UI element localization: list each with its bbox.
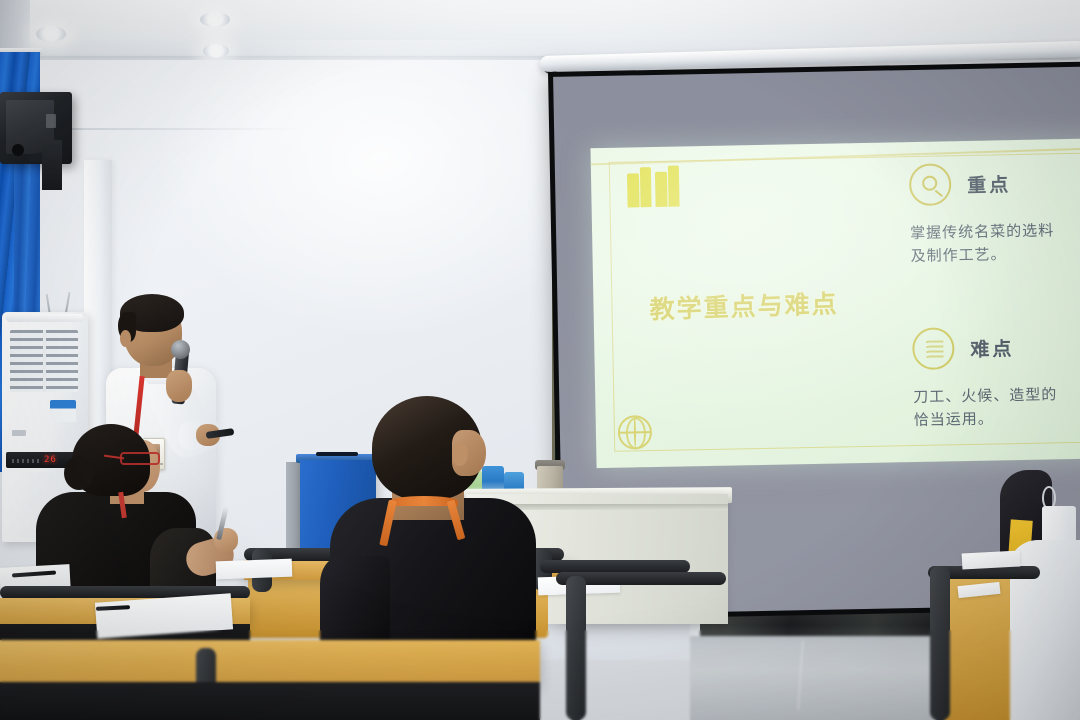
presenter-ear [120, 330, 131, 347]
section-header: 难点 [912, 324, 1080, 370]
handout-paper [216, 559, 293, 580]
section-body: 刀工、火候、造型的 恰当运用。 [913, 382, 1080, 433]
recessed-light-icon [36, 26, 66, 42]
cabinet-slot-icon [316, 452, 358, 456]
magnifier-icon [909, 163, 952, 206]
desk-surface-front [0, 640, 540, 686]
speaker-logo [46, 114, 56, 128]
slide-section-key-points: 重点 掌握传统名菜的选料 及制作工艺。 [909, 160, 1080, 269]
projected-slide: 教学重点与难点 重点 掌握传统名菜的选料 及制作工艺。 [590, 138, 1080, 468]
section-header: 重点 [909, 160, 1080, 206]
ac-energy-label [50, 400, 76, 422]
section-body: 掌握传统名菜的选料 及制作工艺。 [910, 218, 1080, 269]
desk-post [566, 576, 586, 720]
slide-section-difficult-points: 难点 刀工、火候、造型的 恰当运用。 [912, 324, 1080, 433]
recessed-light-icon [203, 44, 229, 58]
desk-front-panel [0, 682, 540, 720]
ac-temperature-readout: 26 [44, 455, 57, 465]
quotation-mark-icon [625, 162, 690, 213]
attendee-man-ear [452, 442, 468, 466]
ac-brand-badge [12, 430, 26, 436]
section-heading: 重点 [967, 170, 1012, 198]
section-body-line: 及制作工艺。 [910, 241, 1080, 268]
handout-paper [962, 550, 1021, 569]
ac-grille-divider [43, 330, 46, 392]
section-body-line: 恰当运用。 [914, 405, 1080, 432]
attendee-woman-hair-bun [64, 456, 94, 490]
section-body-line: 刀工、火候、造型的 [913, 382, 1080, 409]
ac-button-row[interactable] [12, 459, 40, 463]
recessed-light-icon [200, 12, 230, 27]
classroom-photo-scene: 26 教学重点与难点 [0, 0, 1080, 720]
speaker-port-icon [12, 144, 24, 156]
attendee-man-shoulder [320, 556, 390, 648]
speaker-bracket [42, 140, 62, 190]
knife-skill-icon [912, 327, 955, 370]
desk-post [930, 566, 950, 720]
eyeglasses-icon [120, 452, 160, 465]
presenter-hand [166, 370, 192, 402]
section-body-line: 掌握传统名菜的选料 [910, 218, 1080, 245]
slide-title: 教学重点与难点 [649, 284, 839, 326]
ac-top-cap [6, 314, 84, 322]
section-heading: 难点 [970, 334, 1015, 362]
